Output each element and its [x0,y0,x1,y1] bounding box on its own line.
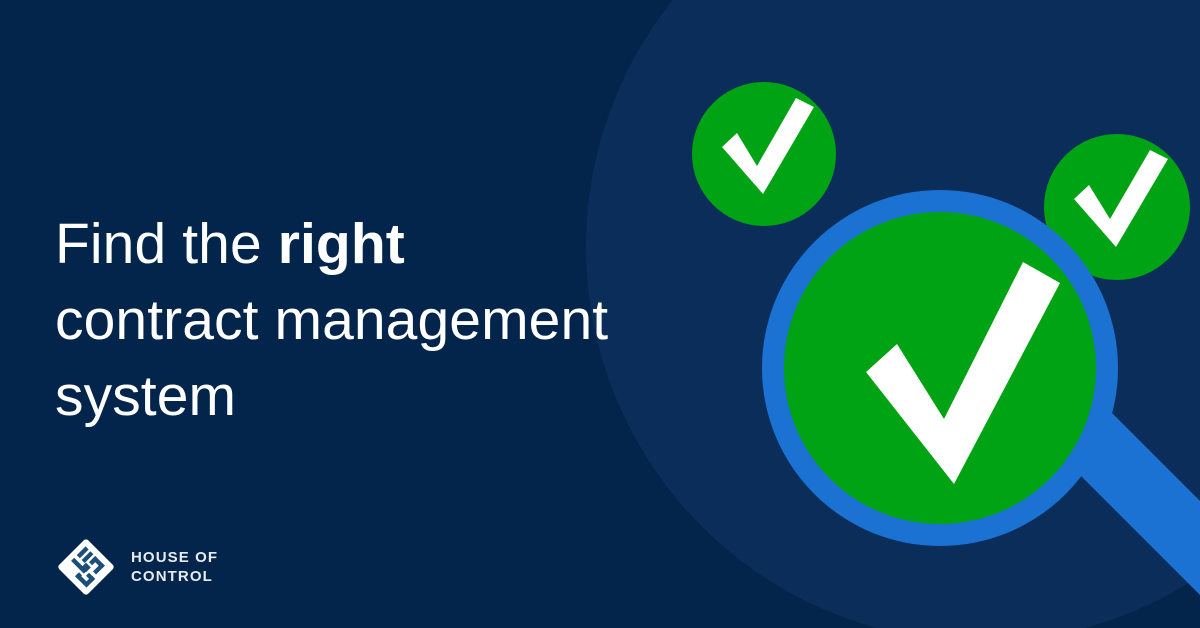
page-title: Find the right contract management syste… [55,206,735,434]
headline-line-3: system [55,358,735,434]
check-badge-top-left-icon [692,82,836,226]
brand-name-line-2: CONTROL [131,567,218,586]
headline-emphasis: right [278,212,405,276]
headline-line-2: contract management [55,282,735,358]
brand-name-line-1: HOUSE OF [131,548,218,567]
brand-logo-wordmark: HOUSE OF CONTROL [131,548,218,586]
magnifier-lens-icon [762,190,1118,546]
marketing-banner: Find the right contract management syste… [0,0,1200,628]
headline-line-1: Find the right [55,206,735,282]
headline-line-1-prefix: Find the [55,212,278,276]
house-of-control-logo-icon [55,536,117,598]
brand-logo-lockup[interactable]: HOUSE OF CONTROL [55,536,218,598]
